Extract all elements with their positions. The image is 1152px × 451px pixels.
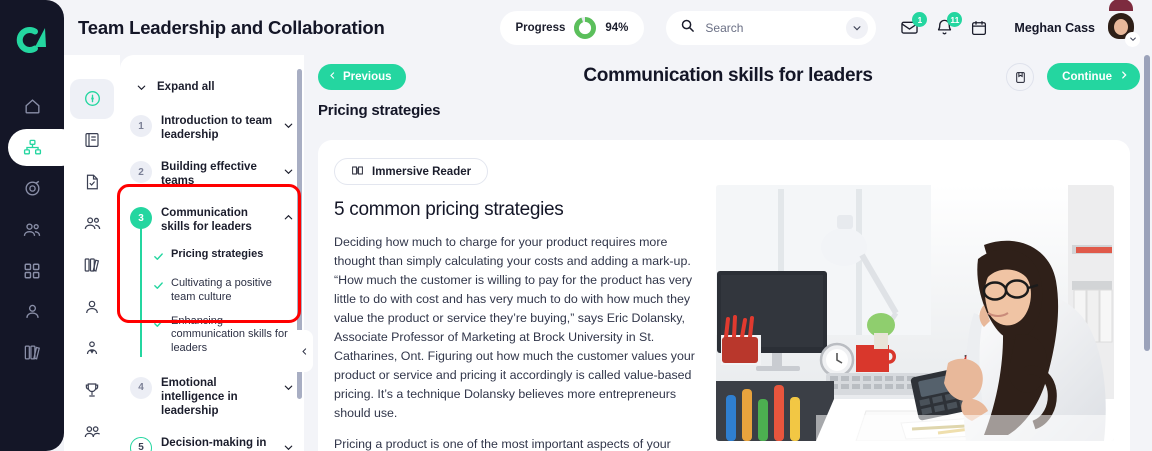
chevron-left-icon — [300, 347, 309, 356]
sidebar-item-home[interactable] — [0, 86, 64, 127]
top-header: Team Leadership and Collaboration Progre… — [64, 0, 1152, 55]
course-icon-person[interactable] — [70, 287, 114, 327]
search-filter-chevron-down-icon[interactable] — [846, 17, 868, 39]
section-title: Introduction to team leadership — [161, 114, 283, 142]
app-logo[interactable] — [12, 20, 52, 60]
lesson-item[interactable]: Enhancing communication skills for leade… — [140, 310, 300, 361]
lesson-card: Immersive Reader 5 common pricing strate… — [318, 140, 1130, 451]
lesson-list: Pricing strategies Cultivating a positiv… — [130, 243, 300, 361]
search-bar[interactable]: Search — [666, 11, 876, 45]
avatar[interactable] — [1104, 11, 1138, 45]
chevron-down-icon — [136, 82, 147, 93]
page-subtitle: Pricing strategies — [304, 100, 1152, 119]
search-input[interactable]: Search — [705, 21, 846, 35]
outline-section[interactable]: 4 Emotional intelligence in leadership — [130, 367, 300, 427]
mail-badge: 1 — [912, 12, 927, 27]
bookmark-icon[interactable] — [1006, 63, 1034, 91]
progress-value: 94% — [605, 22, 628, 34]
course-icon-info[interactable] — [70, 79, 114, 119]
chevron-down-icon[interactable] — [283, 380, 294, 398]
progress-ring-icon — [574, 17, 596, 39]
chevron-up-icon[interactable] — [283, 210, 294, 228]
sidebar-item-people[interactable] — [0, 209, 64, 250]
course-icon-people[interactable] — [70, 204, 114, 244]
lesson-item[interactable]: Pricing strategies — [140, 243, 300, 272]
sidebar-item-org-chart[interactable] — [0, 127, 64, 168]
immersive-reader-button[interactable]: Immersive Reader — [334, 158, 488, 185]
page-title: Team Leadership and Collaboration — [78, 17, 385, 39]
check-icon — [153, 316, 164, 334]
lesson-label: Enhancing communication skills for leade… — [171, 315, 294, 356]
course-icon-group[interactable] — [70, 412, 114, 451]
check-icon — [153, 278, 164, 296]
reader-icon — [351, 164, 364, 180]
rail-item-list — [0, 86, 64, 373]
chevron-down-icon[interactable] — [283, 164, 294, 182]
section-title: Decision-making in teams — [161, 436, 283, 451]
sidebar-item-apps[interactable] — [0, 250, 64, 291]
outline-section-active[interactable]: 3 Communication skills for leaders — [130, 197, 300, 243]
course-icon-instructor[interactable] — [70, 328, 114, 368]
office-photo — [716, 185, 1114, 441]
article-paragraph: Pricing a product is one of the most imp… — [334, 435, 700, 451]
article-heading: 5 common pricing strategies — [334, 199, 700, 221]
course-icon-books[interactable] — [70, 245, 114, 285]
lesson-label: Pricing strategies — [171, 248, 263, 262]
article-body: 5 common pricing strategies Deciding how… — [318, 185, 1130, 451]
outline-section[interactable]: 5 Decision-making in teams — [130, 427, 300, 451]
course-icon-document[interactable] — [70, 162, 114, 202]
article-text-column: 5 common pricing strategies Deciding how… — [318, 185, 700, 451]
lesson-item[interactable]: Cultivating a positive team culture — [140, 272, 300, 310]
section-title: Communication skills for leaders — [161, 206, 283, 234]
avatar-chevron-down-icon[interactable] — [1125, 32, 1140, 47]
article-image — [716, 185, 1114, 441]
section-number: 2 — [130, 161, 152, 183]
expand-all-label: Expand all — [157, 81, 215, 93]
immersive-reader-label: Immersive Reader — [372, 166, 471, 178]
expand-all-toggle[interactable]: Expand all — [120, 55, 304, 105]
section-number: 1 — [130, 115, 152, 137]
outline-section[interactable]: 1 Introduction to team leadership — [130, 105, 300, 151]
course-outline-panel: Expand all 1 Introduction to team leader… — [120, 55, 304, 451]
progress-label: Progress — [516, 22, 566, 34]
section-number: 5 — [130, 437, 152, 451]
sidebar-item-profile[interactable] — [0, 291, 64, 332]
search-icon — [680, 18, 695, 38]
main-content: Previous Communication skills for leader… — [304, 55, 1152, 451]
sidebar-item-library[interactable] — [0, 332, 64, 373]
mail-icon[interactable]: 1 — [900, 18, 919, 37]
app-root: Expand all 1 Introduction to team leader… — [0, 0, 1152, 451]
secondary-icon-column — [64, 55, 120, 451]
bell-icon[interactable]: 11 — [935, 18, 954, 37]
chevron-down-icon[interactable] — [283, 440, 294, 451]
calendar-icon[interactable] — [970, 19, 988, 37]
lesson-rail — [140, 225, 142, 357]
lesson-label: Cultivating a positive team culture — [171, 277, 294, 305]
sidebar-item-goals[interactable] — [0, 168, 64, 209]
check-icon — [153, 249, 164, 267]
chevron-down-icon[interactable] — [283, 118, 294, 136]
user-name: Meghan Cass — [1014, 21, 1095, 35]
chevron-right-icon — [1119, 70, 1129, 83]
lesson-toolbar: Previous Communication skills for leader… — [304, 55, 1152, 100]
header-action-icons: 1 11 — [900, 18, 988, 37]
user-menu[interactable]: Meghan Cass — [1014, 11, 1138, 45]
progress-indicator: Progress 94% — [500, 11, 645, 45]
primary-sidebar — [0, 0, 64, 451]
section-number: 4 — [130, 377, 152, 399]
continue-button[interactable]: Continue — [1047, 63, 1140, 90]
outline-section-list: 1 Introduction to team leadership 2 Buil… — [120, 105, 304, 451]
content-scrollbar[interactable] — [1144, 55, 1150, 351]
bell-badge: 11 — [947, 12, 962, 27]
article-paragraph: Deciding how much to charge for your pro… — [334, 233, 700, 423]
continue-label: Continue — [1062, 71, 1112, 83]
course-icon-trophy[interactable] — [70, 370, 114, 410]
outline-section[interactable]: 2 Building effective teams — [130, 151, 300, 197]
collapse-panel-button[interactable] — [296, 330, 313, 372]
section-title: Emotional intelligence in leadership — [161, 376, 283, 418]
section-title: Building effective teams — [161, 160, 283, 188]
